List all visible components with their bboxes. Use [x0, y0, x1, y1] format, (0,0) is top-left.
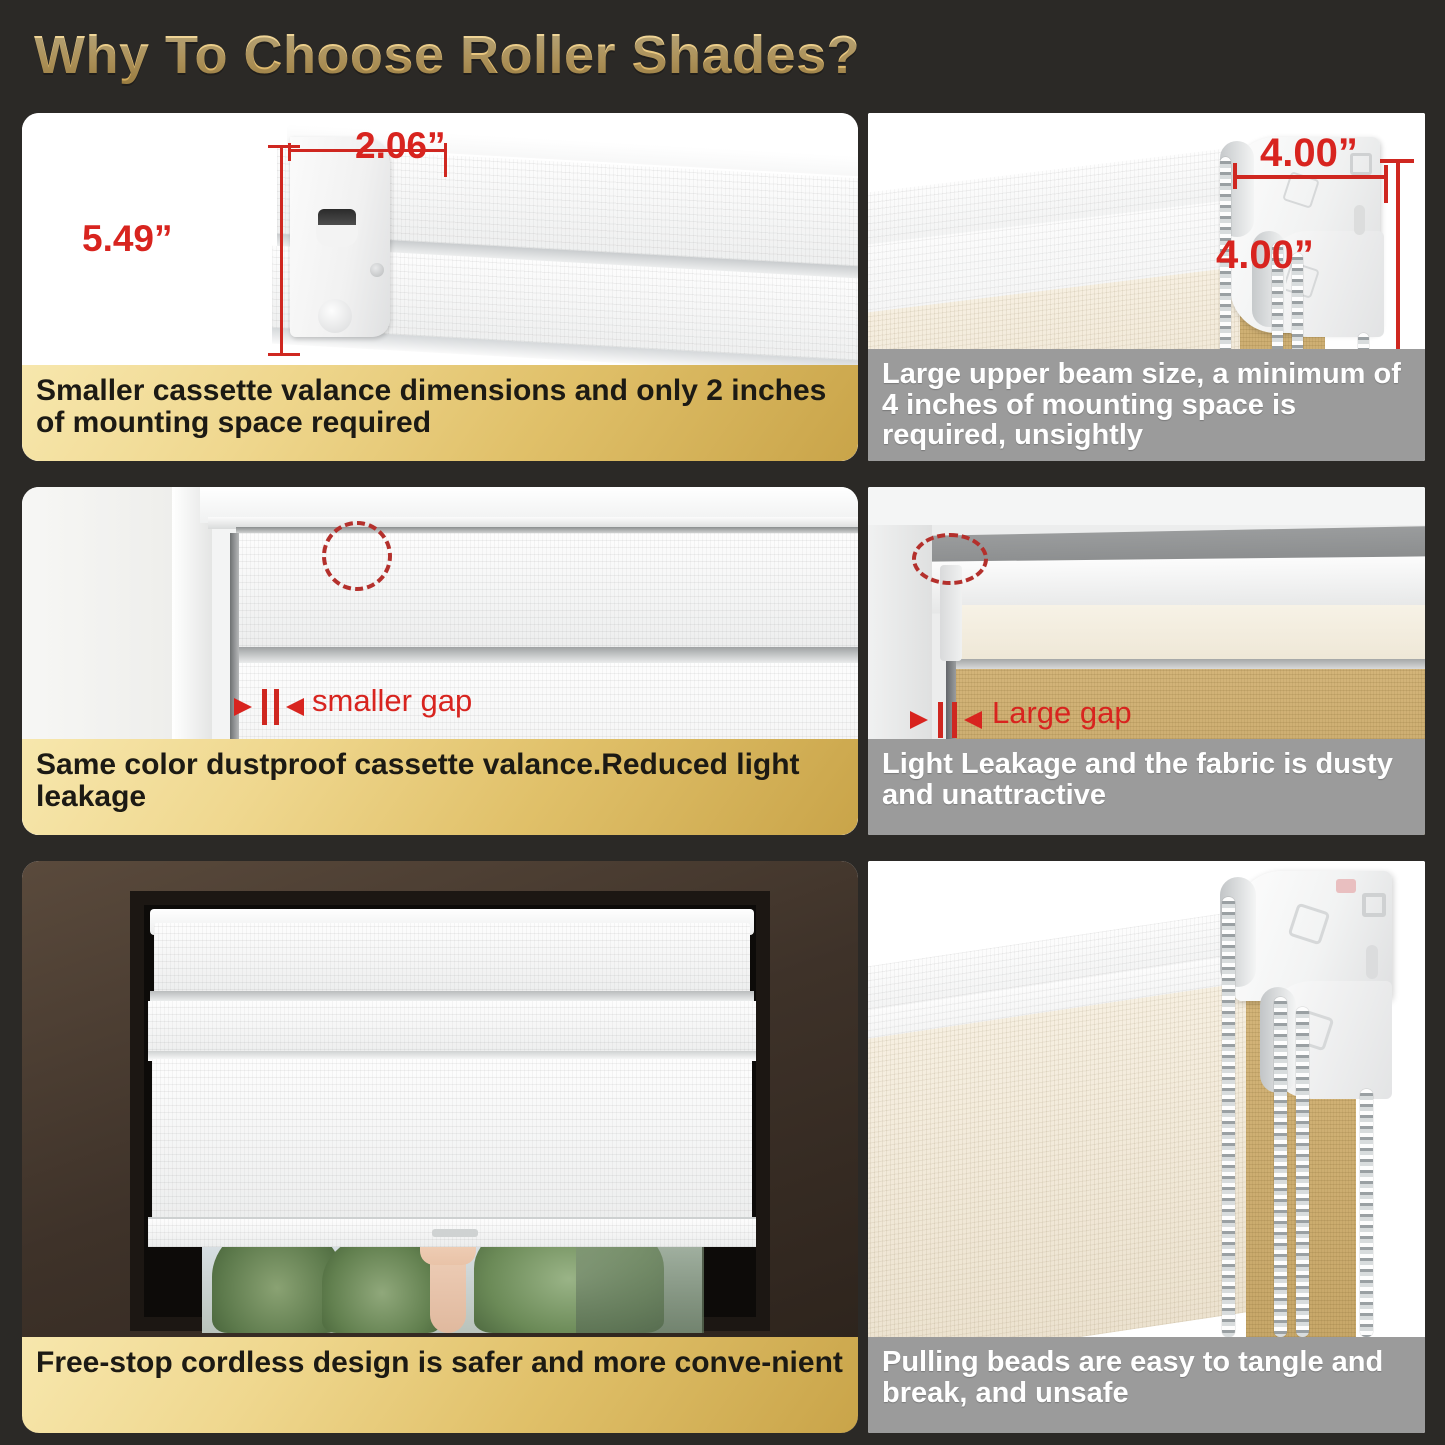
panel-cassette-valance-dimensions: 2.06” 5.49” Smaller cassette valance dim… [22, 113, 858, 461]
caption-free-stop-cordless: Free-stop cordless design is safer and m… [22, 1337, 858, 1433]
bead-chain [1296, 1007, 1309, 1337]
caption-dustproof-cassette-valance: Same color dustproof cassette valance.Re… [22, 739, 858, 835]
caption-pulling-beads-unsafe: Pulling beads are easy to tangle and bre… [868, 1337, 1425, 1433]
highlight-circle [322, 521, 392, 591]
panel-large-upper-beam: 4.00” 4.00” Large upper beam size, a min… [868, 113, 1425, 461]
infographic-page: Why To Choose Roller Shades? 2.06” [0, 0, 1445, 1445]
bead-chain [1274, 997, 1287, 1337]
dimension-line-height [1396, 159, 1400, 363]
dimension-tick-bottom [268, 353, 300, 356]
gap-label: smaller gap [312, 683, 472, 719]
panel-light-leakage: Large gap Light Leakage and the fabric i… [868, 487, 1425, 835]
panel-free-stop-cordless: Free-stop cordless design is safer and m… [22, 861, 858, 1433]
panel-dustproof-cassette-valance: smaller gap Same color dustproof cassett… [22, 487, 858, 835]
gap-arrow-right [964, 711, 982, 729]
gap-label: Large gap [992, 695, 1132, 731]
gap-arrow-left [910, 711, 928, 729]
caption-cassette-valance-dimensions: Smaller cassette valance dimensions and … [22, 365, 858, 461]
gap-arrow-right [286, 698, 304, 716]
gap-arrow-left [234, 698, 252, 716]
dimension-width-label: 2.06” [355, 125, 446, 167]
dimension-width-label: 4.00” [1260, 131, 1358, 176]
highlight-circle [912, 533, 988, 585]
dimension-height-label: 5.49” [82, 218, 173, 260]
bead-chain [1360, 1089, 1373, 1337]
dimension-line-height [280, 145, 283, 355]
dimension-tick-top [268, 145, 300, 148]
dimension-height-label: 4.00” [1216, 233, 1314, 278]
bead-chain [1222, 897, 1235, 1337]
panel-pulling-beads-unsafe: Pulling beads are easy to tangle and bre… [868, 861, 1425, 1433]
caption-large-upper-beam: Large upper beam size, a minimum of 4 in… [868, 349, 1425, 461]
caption-light-leakage: Light Leakage and the fabric is dusty an… [868, 739, 1425, 835]
page-title: Why To Choose Roller Shades? [34, 20, 1034, 90]
